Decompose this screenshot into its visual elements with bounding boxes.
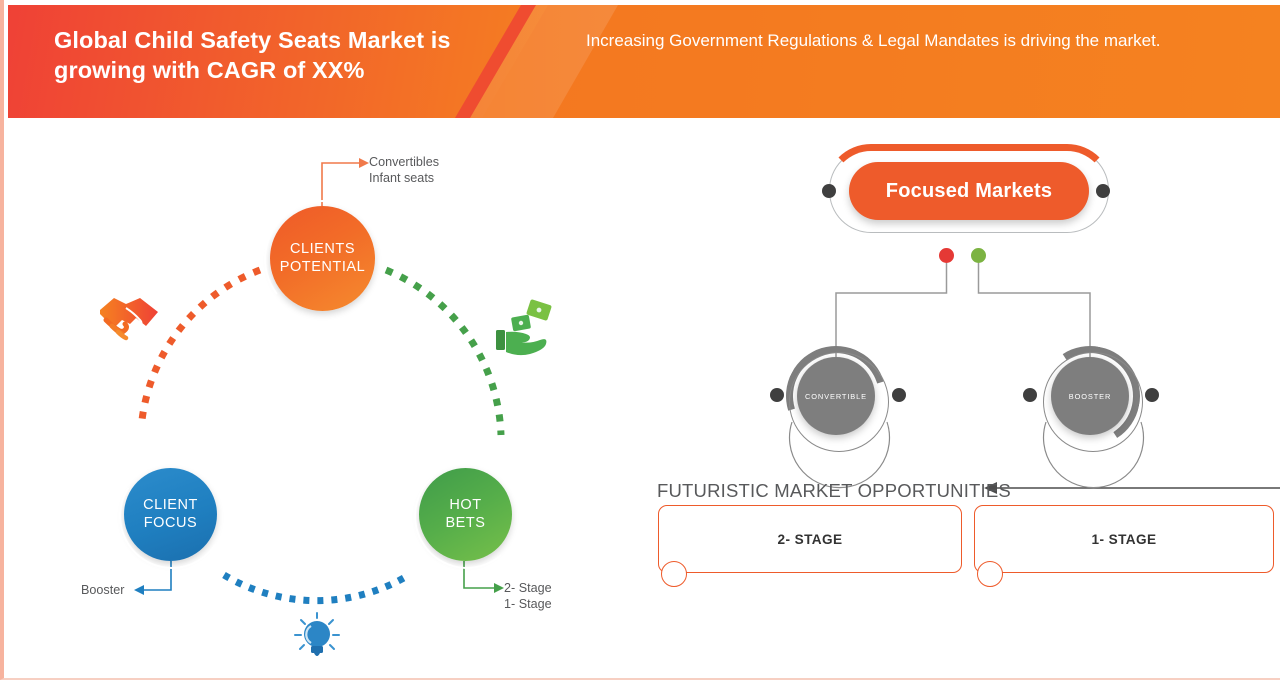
focused-markets-label: Focused Markets bbox=[886, 180, 1052, 203]
booster-node[interactable]: BOOSTER bbox=[1051, 357, 1129, 435]
stage-2-box[interactable]: 2- STAGE bbox=[658, 505, 962, 573]
money-hand-icon bbox=[494, 298, 556, 356]
convertible-node-label: CONVERTIBLE bbox=[805, 392, 867, 401]
stage-1-box[interactable]: 1- STAGE bbox=[974, 505, 1274, 573]
convertible-node[interactable]: CONVERTIBLE bbox=[797, 357, 875, 435]
wheel-node-focus-label: CLIENT FOCUS bbox=[143, 497, 198, 533]
clients-leader-arrow bbox=[359, 158, 369, 168]
page-title: Global Child Safety Seats Market is grow… bbox=[54, 25, 534, 85]
clients-leader-line bbox=[322, 163, 359, 206]
green-status-dot bbox=[971, 248, 986, 263]
wheel-node-clients-label: CLIENTS POTENTIAL bbox=[280, 241, 366, 277]
focus-leader-line bbox=[144, 561, 171, 590]
convertible-connector-line bbox=[836, 263, 947, 357]
convertible-left-knob bbox=[770, 388, 784, 402]
focused-markets-button[interactable]: Focused Markets bbox=[849, 162, 1089, 220]
booster-node-label: BOOSTER bbox=[1069, 392, 1111, 401]
booster-left-knob bbox=[1023, 388, 1037, 402]
header-banner: Global Child Safety Seats Market is grow… bbox=[8, 5, 1280, 118]
focus-leader-arrow bbox=[134, 585, 144, 595]
callout-booster: Booster bbox=[81, 582, 124, 598]
stage-1-label: 1- STAGE bbox=[1092, 532, 1157, 547]
booster-connector-line bbox=[979, 263, 1091, 357]
hot-leader-arrow bbox=[494, 583, 504, 593]
callout-convertibles-infant-seats: Convertibles Infant seats bbox=[369, 154, 439, 186]
focused-markets-left-knob bbox=[822, 184, 836, 198]
lightbulb-icon bbox=[292, 610, 342, 662]
callout-stages: 2- Stage 1- Stage bbox=[504, 580, 552, 612]
green-dotted-arc bbox=[386, 270, 501, 435]
handshake-icon bbox=[96, 290, 168, 348]
infographic-frame: Global Child Safety Seats Market is grow… bbox=[0, 0, 1280, 680]
booster-right-knob bbox=[1145, 388, 1159, 402]
hot-leader-line bbox=[464, 561, 494, 588]
focused-markets-right-knob bbox=[1096, 184, 1110, 198]
market-wheel-diagram: CLIENTS POTENTIAL CLIENT FOCUS HOT BETS … bbox=[64, 130, 624, 675]
stage-2-label: 2- STAGE bbox=[778, 532, 843, 547]
blue-dotted-arc bbox=[224, 575, 409, 601]
wheel-node-client-focus[interactable]: CLIENT FOCUS bbox=[124, 468, 217, 561]
opportunities-title: FUTURISTIC MARKET OPPORTUNITIES bbox=[657, 480, 1011, 502]
convertible-right-knob bbox=[892, 388, 906, 402]
wheel-node-clients-potential[interactable]: CLIENTS POTENTIAL bbox=[270, 206, 375, 311]
focused-markets-diagram: Focused Markets CONVERTIBLE BOOSTER FUTU… bbox=[644, 130, 1280, 675]
header-subtitle: Increasing Government Regulations & Lega… bbox=[586, 29, 1246, 53]
wheel-node-hot-bets[interactable]: HOT BETS bbox=[419, 468, 512, 561]
wheel-node-hot-label: HOT BETS bbox=[445, 497, 485, 533]
stage-2-marker bbox=[661, 561, 687, 587]
red-status-dot bbox=[939, 248, 954, 263]
stage-1-marker bbox=[977, 561, 1003, 587]
